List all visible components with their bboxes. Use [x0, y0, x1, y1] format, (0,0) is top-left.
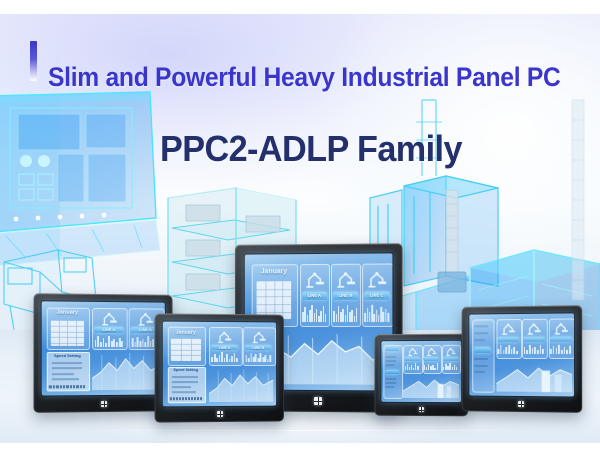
- robot-arm-icon: [98, 311, 120, 327]
- panel-pc-small[interactable]: LINE A LINE B LINE C: [375, 334, 469, 417]
- speed-setting-label: Speed Setting: [47, 353, 88, 358]
- line-badge: LINE B: [523, 337, 545, 342]
- blue-accent-bar: [30, 41, 37, 81]
- line-label: LINE A: [497, 337, 519, 342]
- sidebar-card: [472, 319, 494, 393]
- sparkline-bars: [523, 343, 545, 354]
- line-badge: LINE A: [404, 357, 420, 361]
- month-table: [50, 320, 84, 345]
- area-chart: [92, 351, 161, 390]
- hmi-dashboard-right: LINE A LINE B LINE C: [469, 313, 574, 396]
- hmi-dashboard-small: LINE A LINE B LINE C: [381, 341, 461, 402]
- line-label: LINE A: [302, 292, 327, 300]
- windows-logo-button[interactable]: [101, 401, 107, 407]
- line-label: LINE B: [423, 357, 439, 361]
- panel-screen-right[interactable]: LINE A LINE B LINE C: [469, 313, 574, 396]
- top-white-band: [0, 0, 600, 14]
- line-badge: LINE C: [549, 337, 571, 342]
- line-label: LINE A: [404, 357, 420, 361]
- sparkline-bars: [497, 344, 519, 355]
- line-label: LINE C: [443, 357, 459, 361]
- line-badge: LINE B: [245, 345, 272, 351]
- area-chart: [496, 359, 572, 392]
- robot-arm-icon: [445, 347, 456, 357]
- panel-pc-center[interactable]: January LINE A LINE B: [155, 313, 284, 422]
- line-label: LINE C: [549, 337, 571, 342]
- wireframe-column-right: [572, 100, 584, 300]
- sparkline-bars: [364, 303, 389, 322]
- line-label: LINE C: [364, 292, 389, 300]
- line-badge: LINE C: [364, 292, 389, 300]
- line-label: LINE B: [333, 292, 358, 300]
- area-chart: [404, 374, 460, 399]
- panel-pc-left[interactable]: January LINE A LINE B: [34, 293, 173, 413]
- line-label: LINE A: [94, 327, 123, 333]
- sparkline-bars: [94, 335, 123, 347]
- robot-arm-icon: [305, 269, 324, 291]
- hmi-dashboard-left: January LINE A LINE B: [42, 301, 165, 395]
- hmi-terminal-graphic: [0, 92, 160, 266]
- sparkline-bars: [404, 362, 420, 370]
- sidebar-badge: [385, 370, 399, 374]
- robot-arm-icon: [526, 322, 542, 336]
- month-label: January: [167, 329, 204, 335]
- line-badge: LINE A: [211, 345, 238, 351]
- windows-logo-button[interactable]: [419, 407, 424, 412]
- sparkline-bars: [245, 351, 272, 362]
- sparkline-bars: [211, 351, 238, 362]
- chip-row: [170, 397, 202, 401]
- month-label: January: [252, 268, 296, 275]
- bottom-white-band: [0, 443, 600, 461]
- line-badge: LINE A: [94, 327, 123, 333]
- robot-arm-icon: [500, 322, 516, 336]
- panel-screen-center[interactable]: January LINE A LINE B: [163, 322, 276, 407]
- floor-line: [60, 430, 540, 431]
- line-label: LINE B: [523, 337, 545, 342]
- robot-arm-icon: [214, 330, 234, 344]
- robot-arm-icon: [553, 322, 569, 336]
- sidebar-badge: [474, 347, 490, 353]
- hmi-dashboard-center: January LINE A LINE B: [163, 322, 276, 407]
- product-banner: January LINE A LINE B: [0, 0, 600, 461]
- line-badge: LINE B: [333, 292, 358, 300]
- panel-screen-left[interactable]: January LINE A LINE B: [42, 301, 165, 395]
- line-badge: LINE C: [443, 357, 459, 361]
- area-chart: [209, 367, 273, 402]
- line-badge: LINE A: [302, 292, 327, 300]
- windows-logo-button[interactable]: [518, 401, 524, 407]
- panel-pc-right[interactable]: LINE A LINE B LINE C: [462, 305, 583, 413]
- product-name: PPC2-ADLP Family: [160, 128, 462, 170]
- robot-arm-icon: [367, 269, 386, 291]
- robot-arm-icon: [135, 312, 157, 328]
- sparkline-bars: [549, 343, 571, 354]
- sparkline-bars: [333, 303, 358, 322]
- line-label: LINE A: [211, 345, 238, 351]
- robot-arm-icon: [336, 269, 355, 291]
- speed-setting-label: Speed Setting: [167, 368, 204, 372]
- robot-arm-icon: [426, 347, 437, 357]
- line-badge: LINE B: [423, 357, 439, 361]
- sparkline-bars: [443, 362, 459, 370]
- month-label: January: [47, 310, 88, 316]
- windows-logo-button[interactable]: [314, 397, 322, 405]
- robot-arm-icon: [407, 347, 418, 357]
- sparkline-bars: [302, 303, 327, 322]
- line-badge: LINE A: [497, 337, 519, 342]
- panel-screen-small[interactable]: LINE A LINE B LINE C: [381, 341, 461, 402]
- page-title: Slim and Powerful Heavy Industrial Panel…: [48, 62, 550, 93]
- sidebar-badge: [385, 347, 399, 352]
- month-table: [171, 339, 201, 361]
- robot-arm-icon: [248, 331, 268, 345]
- chip-row: [49, 385, 85, 389]
- sparkline-bars: [423, 362, 439, 370]
- line-label: LINE B: [245, 345, 272, 351]
- windows-logo-button[interactable]: [217, 411, 223, 417]
